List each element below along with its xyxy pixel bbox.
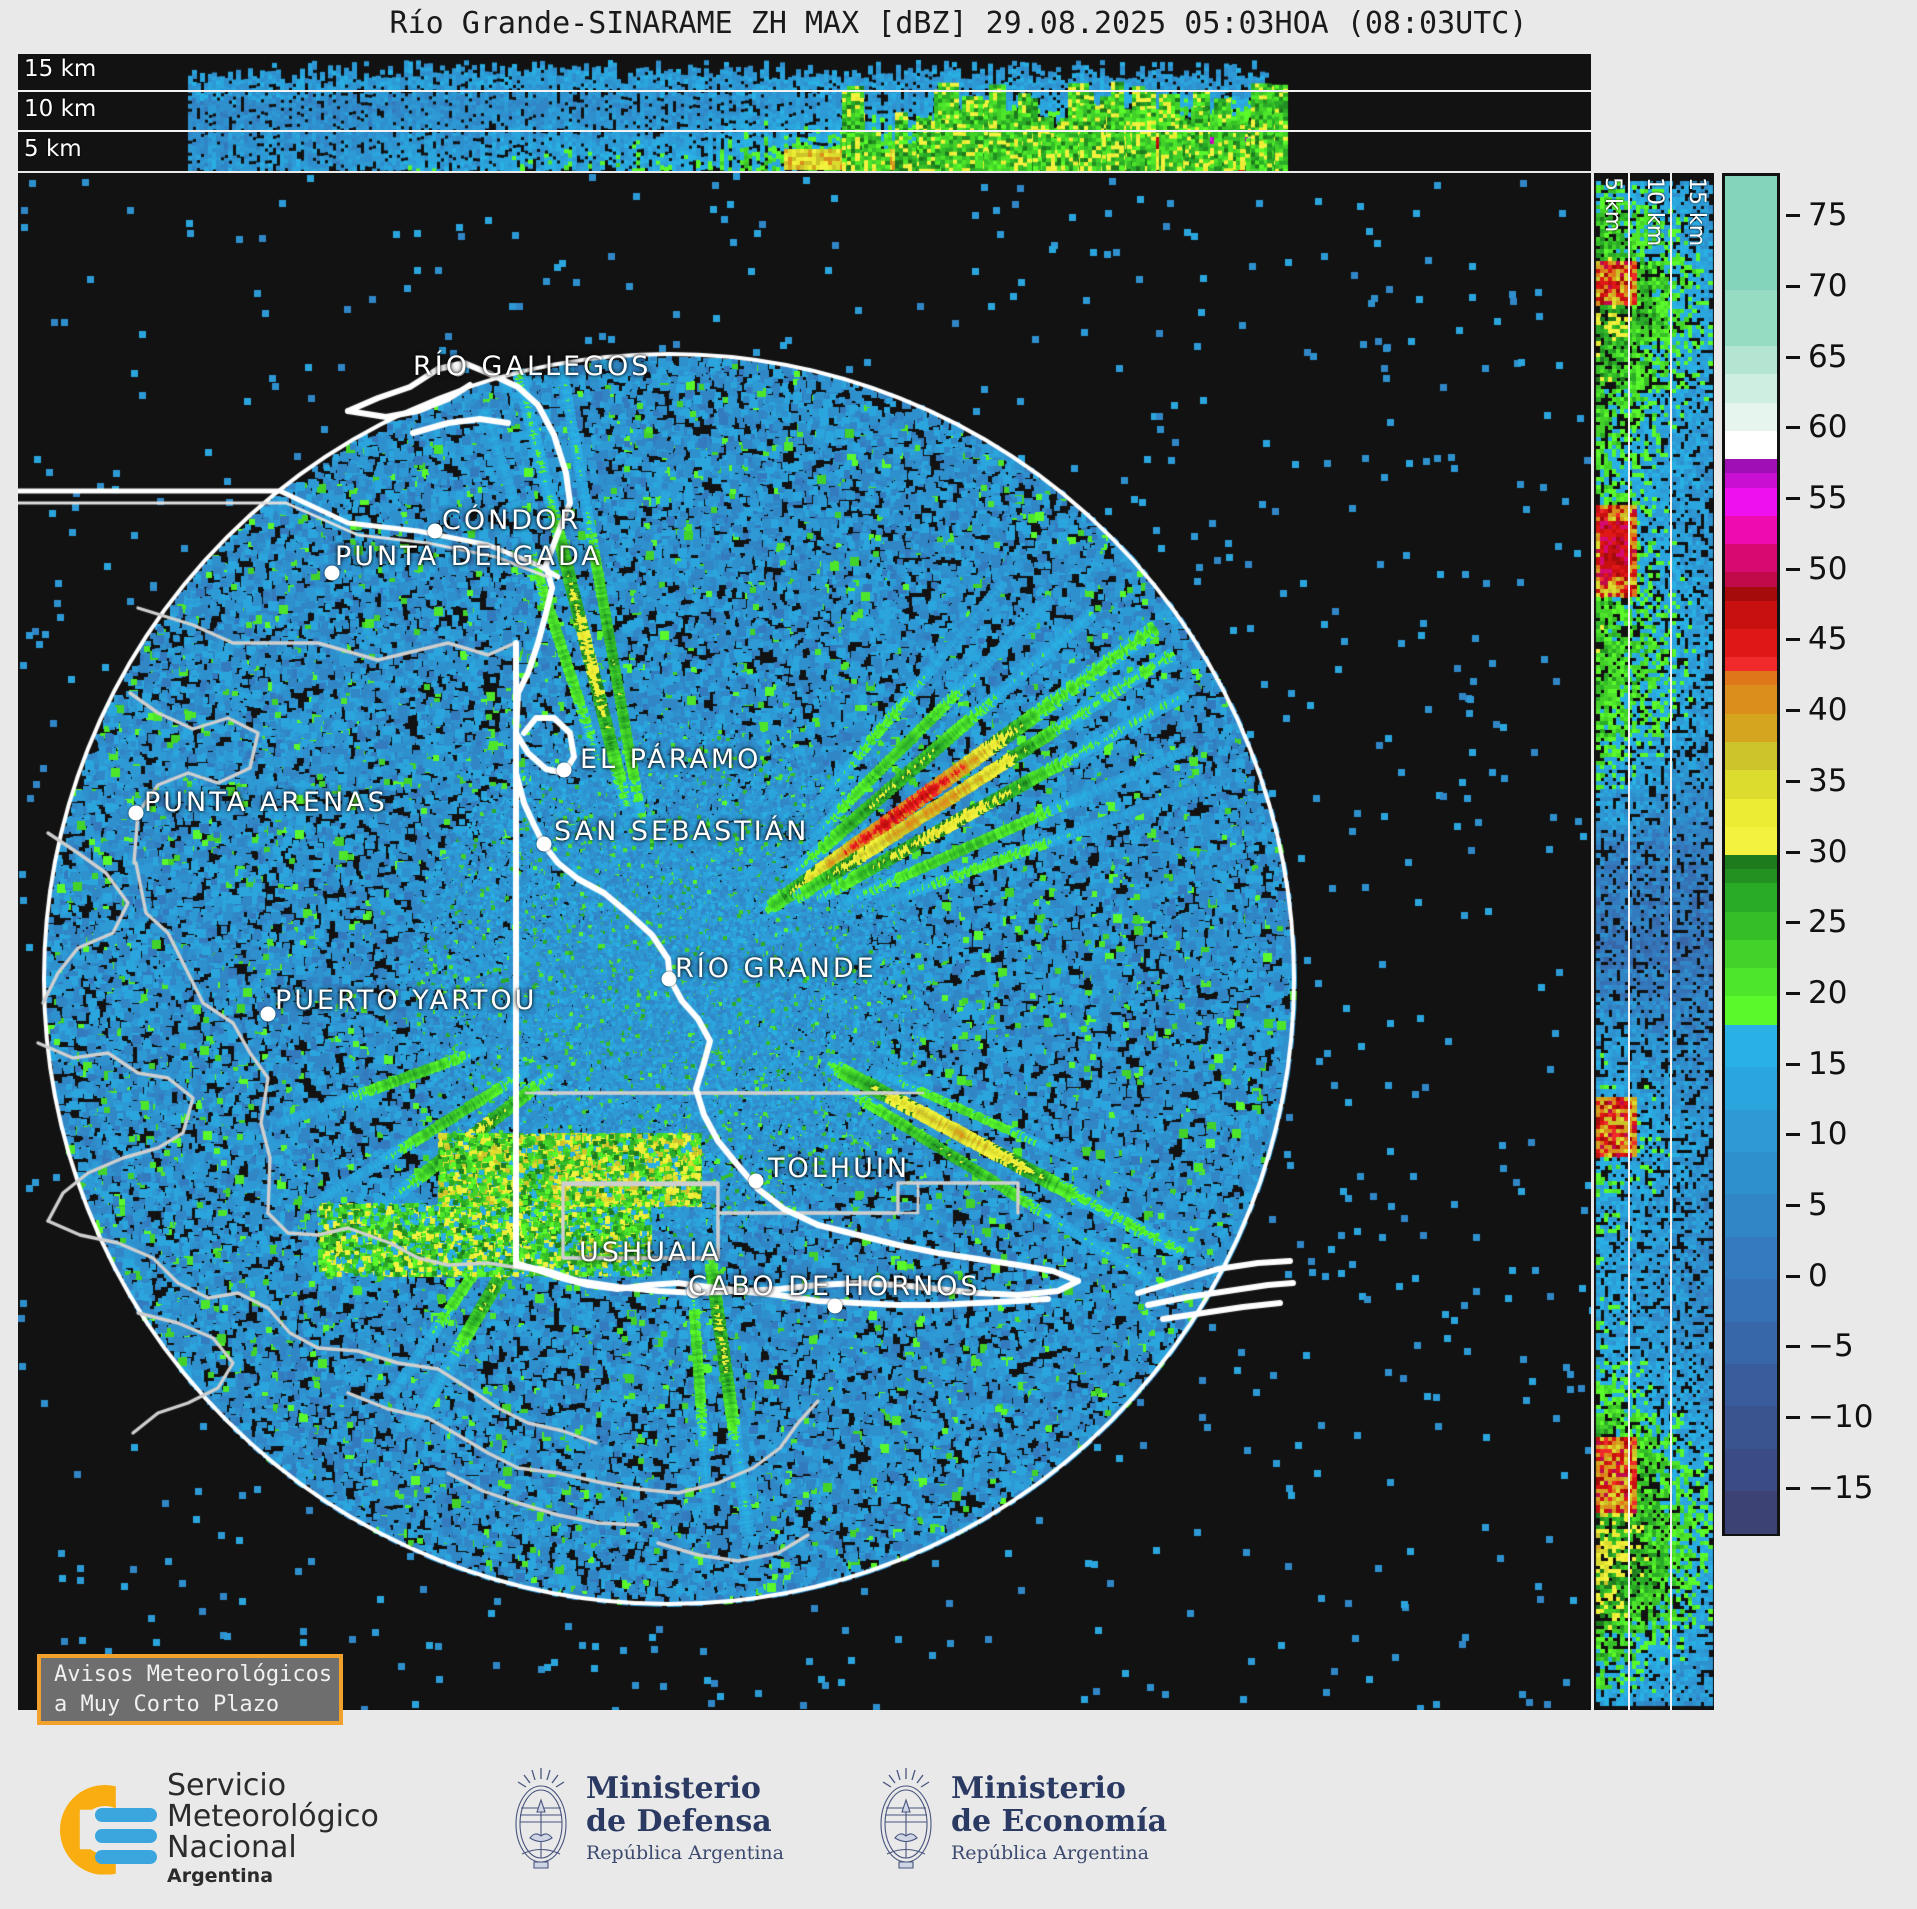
ministerio-economia-logo: Ministerio de Economía República Argenti… bbox=[875, 1766, 1167, 1874]
colorbar-segment bbox=[1725, 600, 1777, 629]
colorbar-segment bbox=[1725, 402, 1777, 431]
colorbar-tick bbox=[1786, 921, 1800, 924]
colorbar-tick-label: 20 bbox=[1808, 975, 1847, 1011]
colorbar-tick-label: 50 bbox=[1808, 551, 1847, 587]
colorbar-segment bbox=[1725, 883, 1777, 912]
colorbar-tick bbox=[1786, 992, 1800, 995]
colorbar-tick-label: −5 bbox=[1808, 1328, 1854, 1364]
colorbar-tick-label: 40 bbox=[1808, 692, 1847, 728]
avisos-meteorologicos-badge[interactable]: Avisos Meteorológicos a Muy Corto Plazo bbox=[37, 1654, 343, 1725]
colorbar-segment bbox=[1725, 1067, 1777, 1110]
avisos-line-1: Avisos Meteorológicos bbox=[54, 1660, 339, 1690]
smn-line-2: Meteorológico bbox=[167, 1801, 379, 1832]
colorbar-segment bbox=[1725, 741, 1777, 770]
colorbar-segment bbox=[1725, 1406, 1777, 1449]
colorbar-tick bbox=[1786, 426, 1800, 429]
height-label-right-5km: 5 km bbox=[1600, 177, 1625, 232]
cross-section-right-canvas bbox=[1594, 173, 1714, 1710]
colorbar-tick-label: −10 bbox=[1808, 1399, 1873, 1435]
colorbar-segment bbox=[1725, 176, 1777, 290]
colorbar bbox=[1722, 173, 1780, 1536]
colorbar-segment bbox=[1725, 657, 1777, 672]
colorbar-tick bbox=[1786, 1345, 1800, 1348]
mindef-line-3: República Argentina bbox=[586, 1838, 784, 1868]
mineco-line-1: Ministerio bbox=[951, 1772, 1167, 1805]
colorbar-segment bbox=[1725, 1194, 1777, 1237]
colorbar-segment bbox=[1725, 869, 1777, 884]
colorbar-tick-label: 0 bbox=[1808, 1258, 1828, 1294]
colorbar-segment bbox=[1725, 487, 1777, 516]
colorbar-segment bbox=[1725, 1448, 1777, 1491]
colorbar-tick bbox=[1786, 568, 1800, 571]
colorbar-segment bbox=[1725, 798, 1777, 827]
colorbar-segment bbox=[1725, 1321, 1777, 1364]
city-marker-dot[interactable] bbox=[451, 362, 466, 377]
colorbar-segment bbox=[1725, 770, 1777, 799]
colorbar-segment bbox=[1725, 713, 1777, 742]
colorbar-tick bbox=[1786, 497, 1800, 500]
height-label-15km: 15 km bbox=[24, 56, 96, 82]
cross-section-top-panel: 15 km 10 km 5 km bbox=[18, 54, 1591, 171]
colorbar-tick-label: 25 bbox=[1808, 904, 1847, 940]
colorbar-segment bbox=[1725, 628, 1777, 657]
footer-logos: Servicio Meteorológico Nacional Argentin… bbox=[0, 1760, 1917, 1909]
colorbar-tick bbox=[1786, 1204, 1800, 1207]
colorbar-tick-label: 5 bbox=[1808, 1187, 1828, 1223]
colorbar-segment bbox=[1725, 855, 1777, 870]
mineco-line-2: de Economía bbox=[951, 1805, 1167, 1838]
colorbar-tick bbox=[1786, 638, 1800, 641]
colorbar-segment bbox=[1725, 685, 1777, 714]
colorbar-tick bbox=[1786, 851, 1800, 854]
colorbar-tick bbox=[1786, 1063, 1800, 1066]
colorbar-segment bbox=[1725, 968, 1777, 997]
colorbar-segment bbox=[1725, 671, 1777, 686]
colorbar-segment bbox=[1725, 1151, 1777, 1194]
colorbar-segment bbox=[1725, 996, 1777, 1025]
colorbar-segment bbox=[1725, 544, 1777, 573]
smn-logo: Servicio Meteorológico Nacional Argentin… bbox=[55, 1770, 379, 1889]
height-label-right-10km: 10 km bbox=[1642, 177, 1667, 246]
city-marker-dot[interactable] bbox=[261, 1007, 276, 1022]
colorbar-tick-label: 65 bbox=[1808, 339, 1847, 375]
page-title: Río Grande-SINARAME ZH MAX [dBZ] 29.08.2… bbox=[0, 0, 1917, 46]
colorbar-gradient bbox=[1725, 176, 1777, 1533]
colorbar-segment bbox=[1725, 515, 1777, 544]
colorbar-segment bbox=[1725, 346, 1777, 375]
colorbar-tick-label: 75 bbox=[1808, 197, 1847, 233]
height-label-10km: 10 km bbox=[24, 96, 96, 122]
colorbar-segment bbox=[1725, 826, 1777, 855]
city-marker-dot[interactable] bbox=[828, 1299, 843, 1314]
colorbar-tick-label: 30 bbox=[1808, 834, 1847, 870]
colorbar-segment bbox=[1725, 1279, 1777, 1322]
mindef-line-2: de Defensa bbox=[586, 1805, 784, 1838]
city-marker-dot[interactable] bbox=[749, 1174, 764, 1189]
colorbar-segment bbox=[1725, 1236, 1777, 1279]
cross-section-top-canvas bbox=[18, 54, 1591, 171]
colorbar-tick bbox=[1786, 780, 1800, 783]
city-marker-dot[interactable] bbox=[325, 566, 340, 581]
colorbar-segment bbox=[1725, 473, 1777, 488]
colorbar-tick bbox=[1786, 1275, 1800, 1278]
mindef-line-1: Ministerio bbox=[586, 1772, 784, 1805]
smn-line-4: Argentina bbox=[167, 1863, 379, 1889]
height-label-5km: 5 km bbox=[24, 136, 82, 162]
colorbar-segment bbox=[1725, 289, 1777, 346]
colorbar-tick bbox=[1786, 1487, 1800, 1490]
city-marker-dot[interactable] bbox=[687, 1284, 702, 1299]
colorbar-tick bbox=[1786, 285, 1800, 288]
height-gridline-right-5km bbox=[1628, 173, 1630, 1710]
colorbar-tick bbox=[1786, 1416, 1800, 1419]
smn-line-3: Nacional bbox=[167, 1832, 379, 1863]
city-marker-dot[interactable] bbox=[662, 972, 677, 987]
smn-line-1: Servicio bbox=[167, 1770, 379, 1801]
avisos-line-2: a Muy Corto Plazo bbox=[54, 1690, 339, 1720]
map-overlay-canvas bbox=[18, 173, 1591, 1710]
colorbar-segment bbox=[1725, 1109, 1777, 1152]
smn-emblem-icon bbox=[55, 1780, 155, 1880]
colorbar-segment bbox=[1725, 1363, 1777, 1406]
city-marker-dot[interactable] bbox=[428, 524, 443, 539]
colorbar-tick bbox=[1786, 356, 1800, 359]
colorbar-segment bbox=[1725, 1024, 1777, 1067]
city-marker-dot[interactable] bbox=[557, 763, 572, 778]
height-label-right-15km: 15 km bbox=[1684, 177, 1709, 246]
colorbar-tick bbox=[1786, 214, 1800, 217]
ministerio-defensa-logo: Ministerio de Defensa República Argentin… bbox=[510, 1766, 784, 1874]
argentina-coat-of-arms-icon bbox=[510, 1766, 572, 1874]
cross-section-right-panel: 5 km 10 km 15 km bbox=[1594, 173, 1714, 1710]
colorbar-segment bbox=[1725, 939, 1777, 968]
radar-ppi-panel[interactable]: RÍO GALLEGOSCÓNDORPUNTA DELGADAEL PÁRAMO… bbox=[18, 173, 1591, 1710]
colorbar-tick-label: 10 bbox=[1808, 1116, 1847, 1152]
colorbar-segment bbox=[1725, 459, 1777, 474]
city-marker-dot[interactable] bbox=[129, 806, 144, 821]
colorbar-tick-label: 45 bbox=[1808, 621, 1847, 657]
colorbar-tick-label: −15 bbox=[1808, 1470, 1873, 1506]
height-gridline-10km bbox=[18, 130, 1591, 132]
colorbar-tick-label: 55 bbox=[1808, 480, 1847, 516]
mineco-line-3: República Argentina bbox=[951, 1838, 1167, 1868]
colorbar-segment bbox=[1725, 1491, 1777, 1534]
colorbar-tick-label: 15 bbox=[1808, 1046, 1847, 1082]
colorbar-tick bbox=[1786, 709, 1800, 712]
height-gridline-15km bbox=[18, 90, 1591, 92]
colorbar-tick-label: 35 bbox=[1808, 763, 1847, 799]
height-gridline-right-10km bbox=[1670, 173, 1672, 1710]
colorbar-segment bbox=[1725, 374, 1777, 403]
colorbar-segment bbox=[1725, 430, 1777, 459]
city-marker-dot[interactable] bbox=[537, 837, 552, 852]
colorbar-segment bbox=[1725, 911, 1777, 940]
argentina-coat-of-arms-icon bbox=[875, 1766, 937, 1874]
colorbar-tick bbox=[1786, 1133, 1800, 1136]
colorbar-tick-label: 70 bbox=[1808, 268, 1847, 304]
colorbar-tick-label: 60 bbox=[1808, 409, 1847, 445]
colorbar-segment bbox=[1725, 572, 1777, 587]
colorbar-segment bbox=[1725, 586, 1777, 601]
